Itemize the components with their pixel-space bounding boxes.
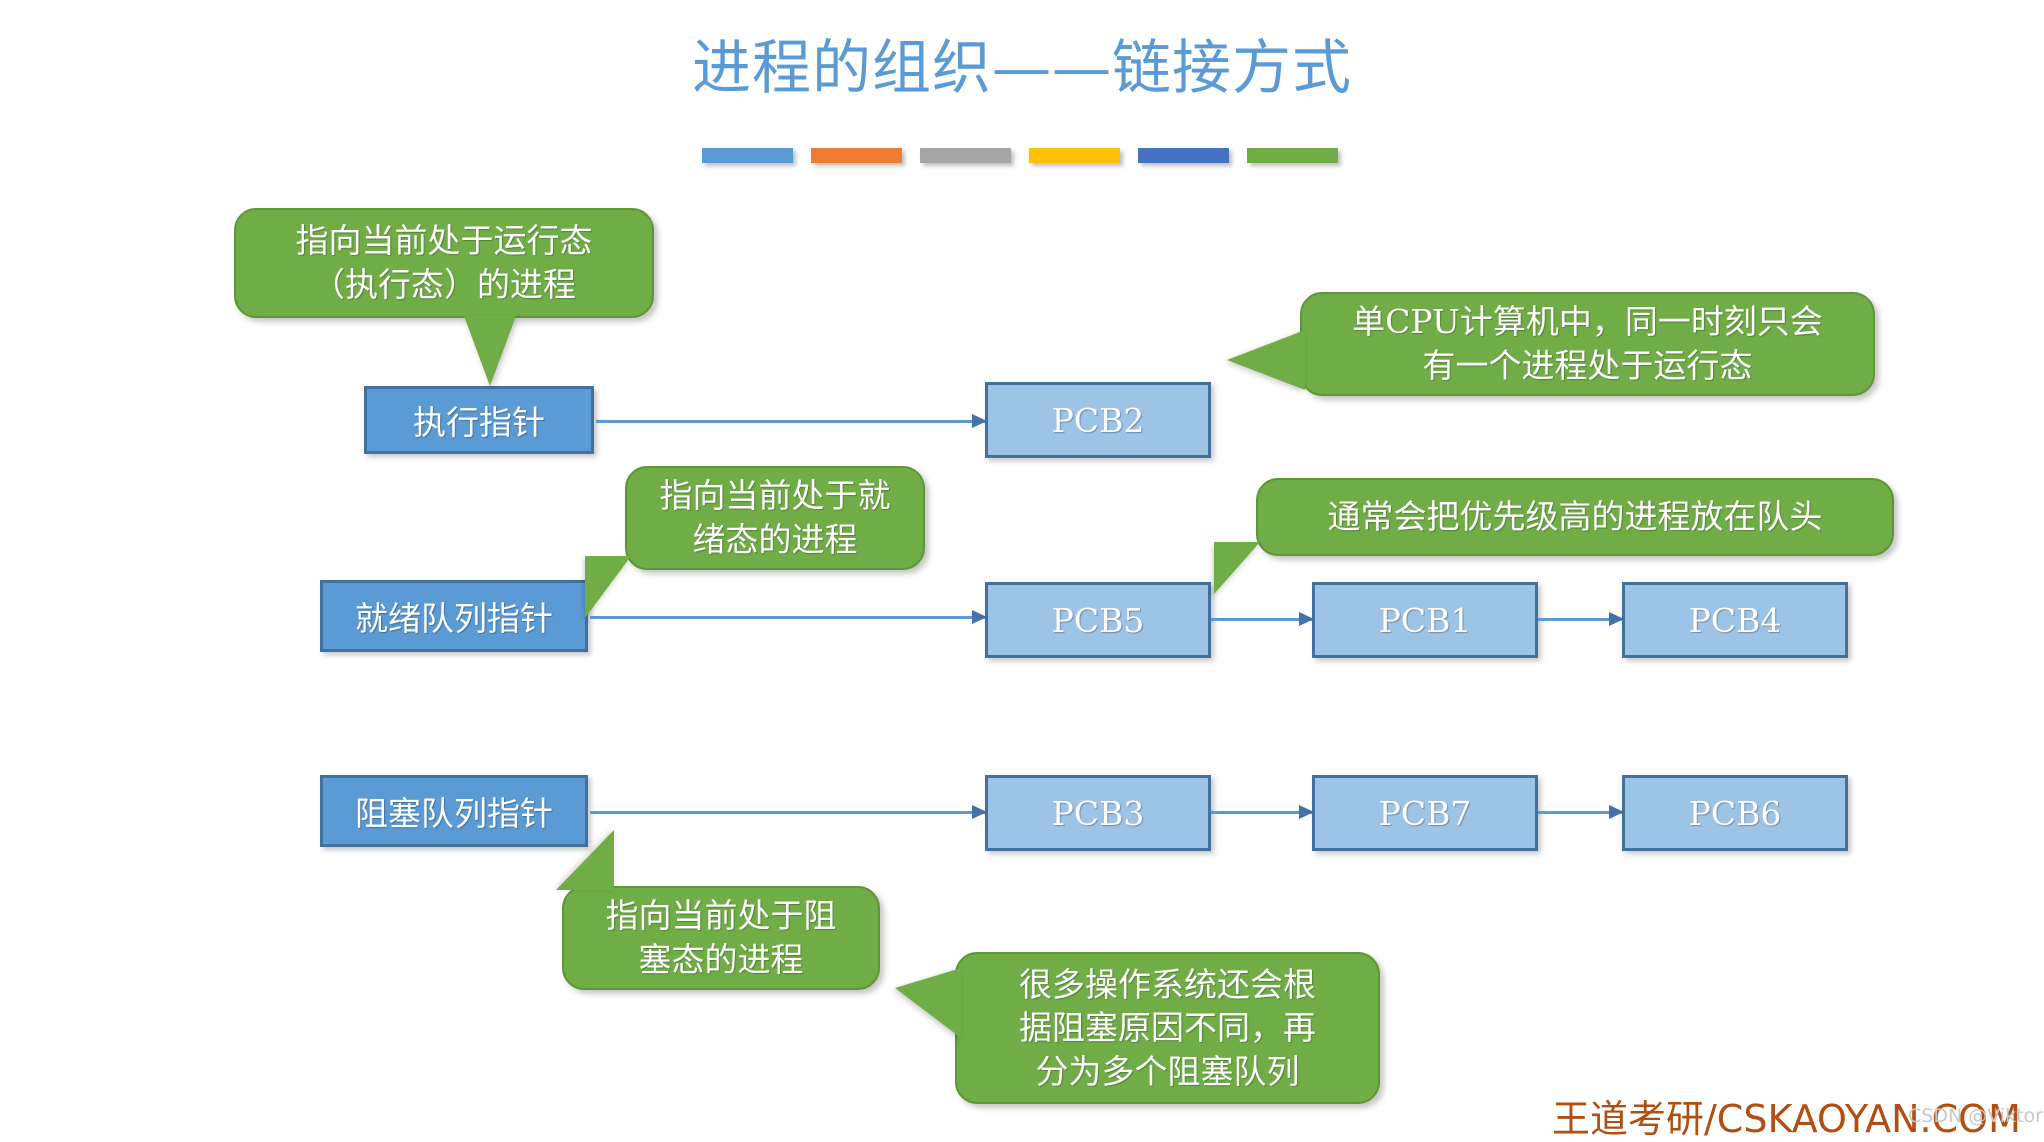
arrow-pcb7-to-pcb6 [1538,811,1622,814]
pcb-box-pcb3-label: PCB3 [1052,794,1145,833]
callout-tail-down-left-icon [1214,542,1260,594]
callout-line: 有一个进程处于运行态 [1352,344,1823,388]
pointer-box-ready[interactable]: 就绪队列指针 [320,580,588,652]
callout-ready-pointer-text: 指向当前处于就 绪态的进程 [660,474,891,561]
arrow-pcb5-to-pcb1 [1211,618,1312,621]
callout-single-cpu[interactable]: 单CPU计算机中，同一时刻只会 有一个进程处于运行态 [1300,292,1875,396]
pcb-box-pcb1[interactable]: PCB1 [1312,582,1538,658]
pcb-box-pcb7-label: PCB7 [1379,794,1472,833]
slide-canvas: 进程的组织——链接方式 执行指针 PCB2 就绪队列指针 PCB5 PCB1 P… [0,0,2044,1142]
pcb-box-pcb4[interactable]: PCB4 [1622,582,1848,658]
callout-line: 据阻塞原因不同，再 [1019,1006,1316,1050]
pointer-box-running-label: 执行指针 [413,396,545,444]
callout-line: （执行态）的进程 [296,263,593,307]
callout-blocked-pointer-text: 指向当前处于阻 塞态的进程 [606,894,837,981]
arrow-blocked-to-pcb3 [590,811,985,814]
callout-multiple-blocked-queues-text: 很多操作系统还会根 据阻塞原因不同，再 分为多个阻塞队列 [1019,963,1316,1094]
page-title: 进程的组织——链接方式 [0,36,2044,101]
pcb-box-pcb5-label: PCB5 [1052,601,1145,640]
callout-priority-head[interactable]: 通常会把优先级高的进程放在队头 [1256,478,1894,556]
arrow-pcb3-to-pcb7 [1211,811,1312,814]
callout-line: 指向当前处于阻 [606,894,837,938]
callout-line: 绪态的进程 [660,518,891,562]
pointer-box-blocked-label: 阻塞队列指针 [355,787,553,835]
callout-priority-head-text: 通常会把优先级高的进程放在队头 [1328,495,1823,539]
csdn-watermark: CSDN @Viktoriae [1908,1105,2044,1127]
accent-bar-group [702,148,1338,163]
pointer-box-blocked[interactable]: 阻塞队列指针 [320,775,588,847]
arrow-pcb1-to-pcb4 [1538,618,1622,621]
accent-bar-gray [920,148,1011,163]
accent-bar-orange [811,148,902,163]
accent-bar-blue [702,148,793,163]
accent-bar-green [1247,148,1338,163]
callout-multiple-blocked-queues[interactable]: 很多操作系统还会根 据阻塞原因不同，再 分为多个阻塞队列 [955,952,1380,1104]
callout-single-cpu-text: 单CPU计算机中，同一时刻只会 有一个进程处于运行态 [1352,300,1823,387]
accent-bar-yellow [1029,148,1120,163]
callout-line: 单CPU计算机中，同一时刻只会 [1352,300,1823,344]
pointer-box-ready-label: 就绪队列指针 [355,592,553,640]
callout-running-pointer[interactable]: 指向当前处于运行态 （执行态）的进程 [234,208,654,318]
callout-line: 分为多个阻塞队列 [1019,1050,1316,1094]
pcb-box-pcb7[interactable]: PCB7 [1312,775,1538,851]
arrow-running-to-pcb2 [596,420,985,423]
pcb-box-pcb5[interactable]: PCB5 [985,582,1211,658]
pcb-box-pcb1-label: PCB1 [1379,601,1472,640]
pcb-box-pcb3[interactable]: PCB3 [985,775,1211,851]
callout-line: 指向当前处于运行态 [296,219,593,263]
callout-line: 塞态的进程 [606,938,837,982]
callout-tail-down-left-icon [585,556,631,618]
callout-line: 指向当前处于就 [660,474,891,518]
pcb-box-pcb6-label: PCB6 [1689,794,1782,833]
pcb-box-pcb2[interactable]: PCB2 [985,382,1211,458]
pointer-box-running[interactable]: 执行指针 [364,386,594,454]
callout-line: 很多操作系统还会根 [1019,963,1316,1007]
callout-tail-left-icon [895,968,961,1038]
arrow-ready-to-pcb5 [590,616,985,619]
callout-ready-pointer[interactable]: 指向当前处于就 绪态的进程 [625,466,925,570]
callout-running-pointer-text: 指向当前处于运行态 （执行态）的进程 [296,219,593,306]
callout-blocked-pointer[interactable]: 指向当前处于阻 塞态的进程 [562,886,880,990]
callout-tail-left-icon [1227,330,1305,390]
callout-tail-down-icon [464,316,516,386]
accent-bar-indigo [1138,148,1229,163]
pcb-box-pcb4-label: PCB4 [1689,601,1782,640]
pcb-box-pcb2-label: PCB2 [1052,401,1145,440]
pcb-box-pcb6[interactable]: PCB6 [1622,775,1848,851]
